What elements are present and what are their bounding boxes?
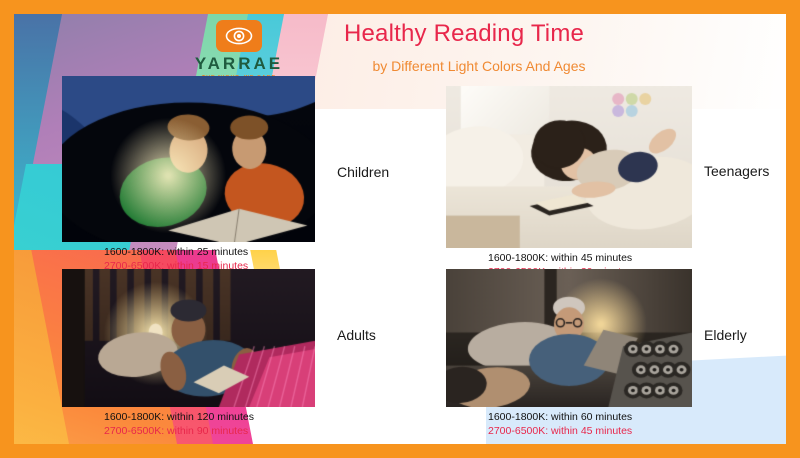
eye-icon: [216, 20, 262, 52]
age-label-teenagers: Teenagers: [704, 163, 769, 179]
caption-warm: 1600-1800K: within 60 minutes: [488, 411, 692, 425]
photo-teenagers: [446, 86, 692, 248]
caption-warm: 1600-1800K: within 25 minutes: [104, 246, 315, 260]
photo-adults: [62, 269, 315, 407]
card-adults: 1600-1800K: within 120 minutes 2700-6500…: [62, 269, 315, 438]
page-title: Healthy Reading Time: [299, 20, 629, 48]
brand-wordmark: YARRAE: [195, 55, 283, 72]
card-children: 1600-1800K: within 25 minutes 2700-6500K…: [62, 76, 315, 273]
card-teenagers: 1600-1800K: within 45 minutes 2700-6500K…: [446, 86, 692, 279]
caption-cool: 2700-6500K: within 45 minutes: [488, 425, 692, 439]
poster-frame: YARRAE THE NIGHT. WE CARE Healthy Readin…: [0, 0, 800, 458]
poster-canvas: YARRAE THE NIGHT. WE CARE Healthy Readin…: [14, 14, 786, 444]
age-label-children: Children: [337, 164, 389, 180]
page-subtitle: by Different Light Colors And Ages: [314, 58, 644, 74]
age-label-elderly: Elderly: [704, 327, 747, 343]
caption-warm: 1600-1800K: within 45 minutes: [488, 252, 692, 266]
photo-elderly: [446, 269, 692, 407]
age-label-adults: Adults: [337, 327, 376, 343]
caption-adults: 1600-1800K: within 120 minutes 2700-6500…: [104, 411, 315, 438]
card-elderly: 1600-1800K: within 60 minutes 2700-6500K…: [446, 269, 692, 438]
caption-elderly: 1600-1800K: within 60 minutes 2700-6500K…: [488, 411, 692, 438]
caption-cool: 2700-6500K: within 90 minutes: [104, 425, 315, 439]
caption-warm: 1600-1800K: within 120 minutes: [104, 411, 315, 425]
photo-children: [62, 76, 315, 242]
